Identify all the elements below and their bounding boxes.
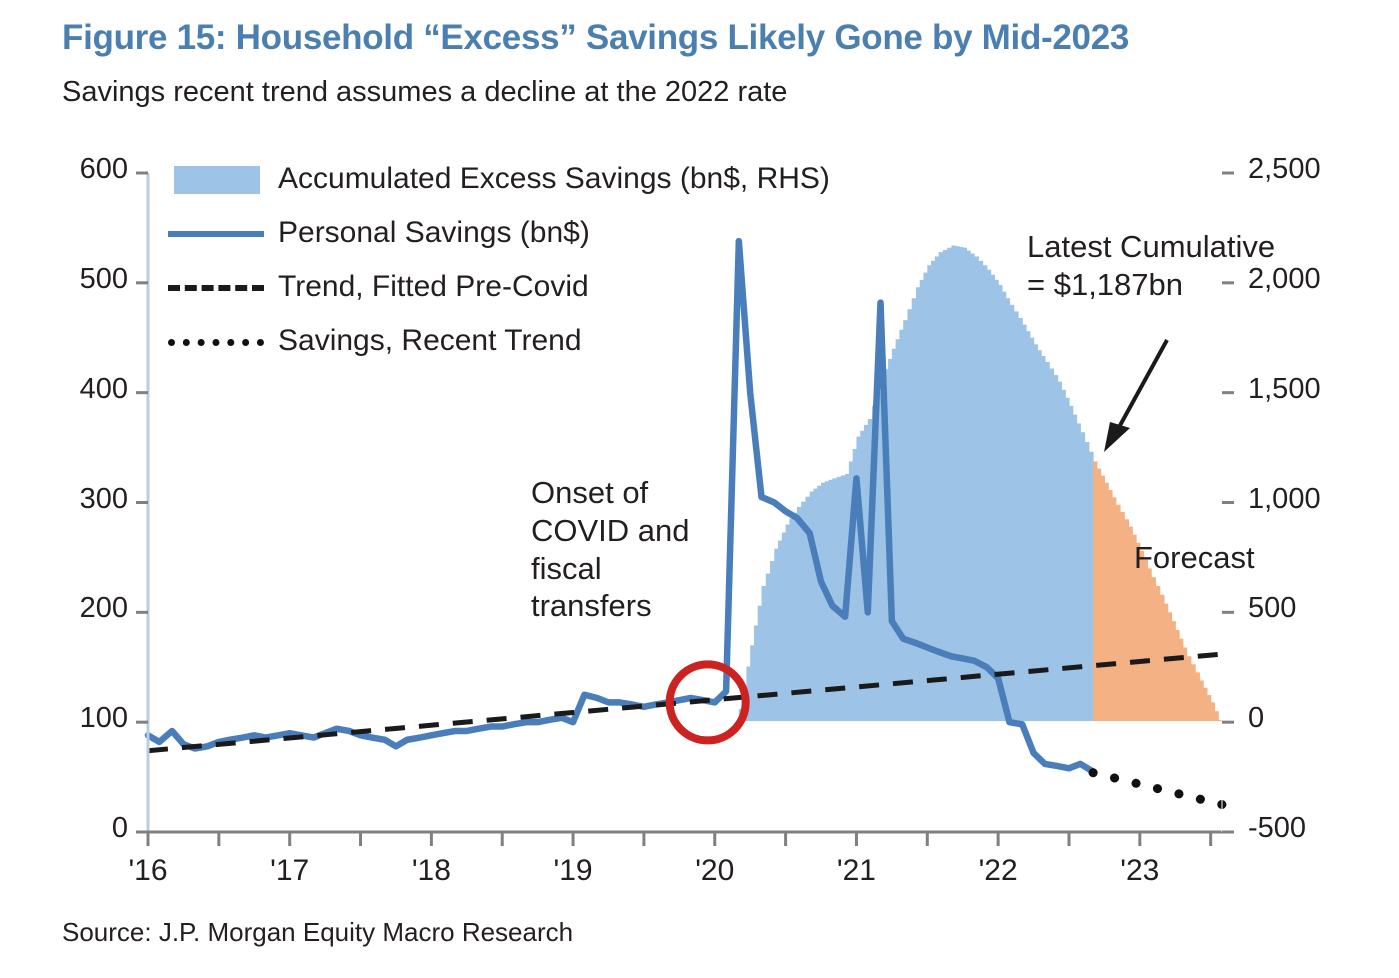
x-axis-label-19: '19 — [523, 854, 623, 888]
legend-label-2: Trend, Fitted Pre-Covid — [278, 270, 589, 304]
x-axis-label-22: '22 — [948, 854, 1048, 888]
legend-line-swatch-icon — [168, 216, 264, 250]
legend-area-swatch-icon — [168, 162, 264, 196]
right-axis-label--500: -500 — [1248, 812, 1398, 845]
legend-item-accumulated-excess-savings: Accumulated Excess Savings (bn$, RHS) — [168, 152, 830, 206]
x-axis-label-18: '18 — [381, 854, 481, 888]
callout-arrow-head-icon — [1104, 422, 1130, 452]
right-axis-label-2500: 2,500 — [1248, 153, 1398, 186]
legend-item-trend-fitted-pre-covid: Trend, Fitted Pre-Covid — [168, 260, 830, 314]
legend-label-1: Personal Savings (bn$) — [278, 216, 590, 250]
legend-label-3: Savings, Recent Trend — [278, 324, 582, 358]
annotation-onset-of-covid: Onset of COVID and fiscal transfers — [531, 474, 690, 625]
left-axis-label-500: 500 — [0, 263, 128, 296]
left-axis-label-400: 400 — [0, 373, 128, 406]
series-savings-recent-trend — [1093, 773, 1222, 805]
annotation-latest-cumulative: Latest Cumulative = $1,187bn — [1027, 228, 1275, 304]
legend-item-savings-recent-trend: Savings, Recent Trend — [168, 314, 830, 368]
x-axis-label-16: '16 — [98, 854, 198, 888]
chart-canvas — [0, 0, 1399, 978]
x-axis-label-20: '20 — [665, 854, 765, 888]
annotation-forecast: Forecast — [1134, 540, 1255, 576]
left-axis-label-600: 600 — [0, 153, 128, 186]
x-axis-label-17: '17 — [240, 854, 340, 888]
right-axis-label-1000: 1,000 — [1248, 483, 1398, 516]
left-axis-label-300: 300 — [0, 483, 128, 516]
right-axis-label-1500: 1,500 — [1248, 373, 1398, 406]
series-forecast-bars — [1093, 461, 1223, 722]
legend-dashed-swatch-icon — [168, 270, 264, 304]
legend-label-0: Accumulated Excess Savings (bn$, RHS) — [278, 162, 830, 196]
x-axis-label-23: '23 — [1090, 854, 1190, 888]
left-axis-label-0: 0 — [0, 812, 128, 845]
right-axis-label-500: 500 — [1248, 592, 1398, 625]
legend-item-personal-savings: Personal Savings (bn$) — [168, 206, 830, 260]
right-axis-label-0: 0 — [1248, 702, 1398, 735]
left-axis-label-200: 200 — [0, 592, 128, 625]
figure-source: Source: J.P. Morgan Equity Macro Researc… — [62, 917, 573, 948]
legend-dotted-swatch-icon — [168, 324, 264, 358]
x-axis-label-21: '21 — [806, 854, 906, 888]
chart-legend: Accumulated Excess Savings (bn$, RHS) Pe… — [168, 152, 830, 368]
left-axis-label-100: 100 — [0, 702, 128, 735]
callout-arrow-line — [1112, 340, 1167, 440]
